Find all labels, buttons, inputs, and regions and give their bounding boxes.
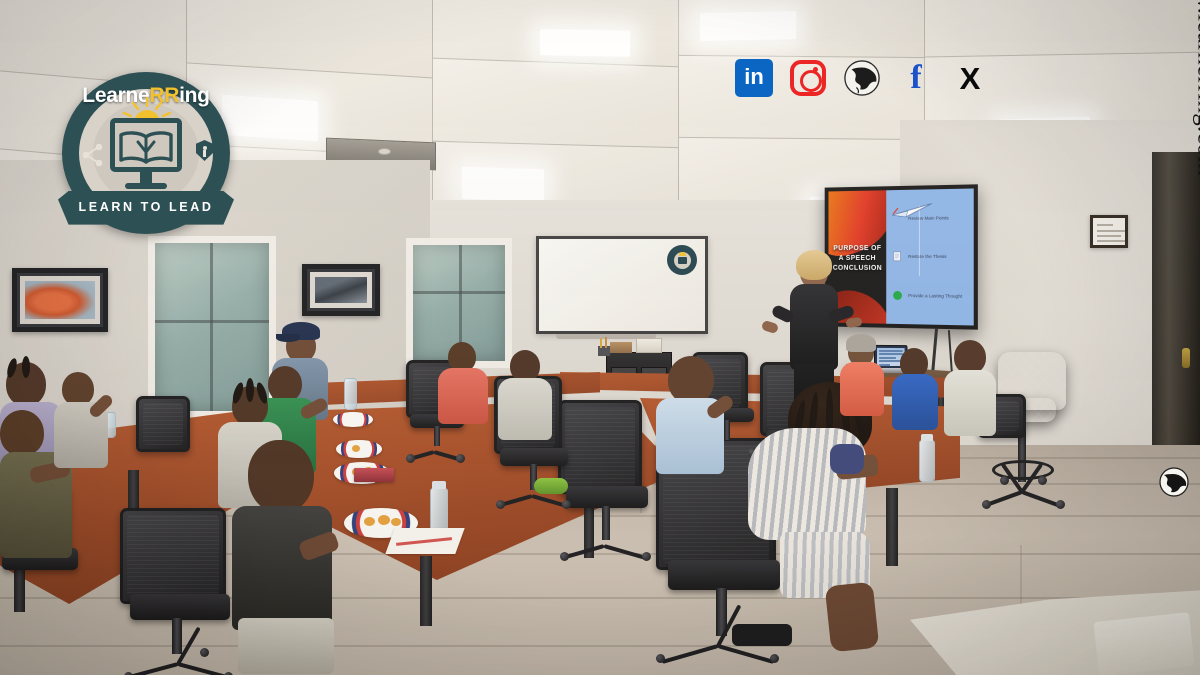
chair-base — [124, 648, 242, 675]
whiteboard-logo-decal — [667, 245, 697, 275]
presenter-torso — [790, 284, 838, 370]
aircraft-photo — [302, 264, 380, 316]
green-dot-icon — [892, 290, 903, 301]
book — [354, 468, 394, 482]
website-url[interactable]: www.learnerring.com — [1192, 0, 1200, 176]
paper-plane-icon — [890, 203, 934, 220]
facebook-icon[interactable]: f — [896, 58, 936, 98]
network-node-icon — [82, 142, 104, 168]
x-glyph: X — [960, 63, 981, 94]
chair-base — [560, 534, 656, 560]
student — [232, 440, 342, 675]
logo-tagline: LEARN TO LEAD — [79, 200, 214, 214]
student — [438, 342, 494, 438]
student — [944, 340, 1002, 450]
learnerring-logo: LearneRRing — [62, 72, 230, 234]
student-head — [62, 372, 94, 406]
student-torso — [840, 362, 884, 416]
student-torso — [232, 506, 332, 630]
facebook-glyph: f — [910, 61, 921, 95]
white-cloth — [1093, 612, 1194, 675]
document-icon — [892, 251, 903, 262]
student-head — [668, 356, 714, 404]
logo-tagline-banner: LEARN TO LEAD — [58, 186, 234, 228]
table-leg — [420, 556, 432, 626]
slide-bullets-panel: Review Main Points Restate the Thesis — [886, 188, 973, 325]
logo-word-suffix: ing — [179, 84, 210, 107]
smoke-detector-icon — [378, 148, 391, 155]
pencil — [605, 337, 607, 348]
shoe — [534, 478, 568, 494]
table-leg — [886, 488, 898, 566]
framed-certificate — [1090, 215, 1128, 248]
student-head — [0, 410, 44, 456]
ceiling-light — [540, 29, 630, 57]
task-chair — [136, 396, 206, 492]
student — [498, 350, 558, 450]
bottle-cap — [432, 481, 446, 489]
chair-backrest — [120, 508, 226, 604]
snack-plate — [333, 412, 373, 427]
linkedin-glyph: in — [735, 59, 773, 97]
water-bottle — [919, 440, 935, 482]
globe-icon[interactable] — [842, 58, 882, 98]
student — [892, 348, 944, 446]
chair-seat — [130, 594, 230, 620]
snack-plate — [336, 440, 382, 458]
supply-box — [610, 342, 632, 353]
student-head — [954, 340, 986, 374]
cap-brim — [276, 334, 300, 342]
open-book-icon — [116, 130, 176, 164]
slide-bullet: Provide a Lasting Thought — [892, 276, 967, 316]
door-handle — [1182, 348, 1190, 368]
instagram-icon[interactable] — [788, 58, 828, 98]
slide-bullet-text: Provide a Lasting Thought — [908, 293, 962, 299]
student-head — [248, 440, 314, 514]
helicopter-photo — [12, 268, 108, 332]
chair-backrest — [136, 396, 190, 452]
ceiling-light — [700, 11, 796, 41]
student-torso — [498, 378, 552, 440]
student-leg — [825, 582, 880, 653]
water-bottle — [344, 378, 357, 410]
slide-bullet-text: Restate the Thesis — [908, 254, 946, 259]
student-torso — [944, 370, 996, 436]
classroom-photo: PURPOSE OF A SPEECH CONCLUSION Review Ma… — [0, 0, 1200, 675]
student-shorts — [238, 618, 334, 674]
pencil — [600, 338, 602, 348]
monitor-foot-icon — [125, 183, 167, 189]
tissue-box — [636, 338, 662, 353]
social-icons-bar: in f X — [734, 58, 990, 98]
student-torso — [438, 368, 488, 424]
slide-bullet: Restate the Thesis — [892, 237, 967, 276]
ceiling-light — [222, 95, 318, 142]
chair-base — [406, 444, 466, 462]
x-twitter-icon[interactable]: X — [950, 58, 990, 98]
student-sleeve — [830, 444, 864, 474]
student — [54, 372, 116, 502]
ceiling-light — [462, 167, 544, 202]
stool-base — [982, 478, 1070, 508]
presenter-hair — [796, 250, 832, 280]
whiteboard — [536, 236, 708, 334]
student-torso — [892, 374, 938, 430]
linkedin-icon[interactable]: in — [734, 58, 774, 98]
student — [654, 356, 734, 496]
globe-icon — [1158, 466, 1190, 498]
student-shoe — [732, 624, 792, 646]
student-hair — [846, 334, 876, 352]
student — [840, 338, 890, 428]
